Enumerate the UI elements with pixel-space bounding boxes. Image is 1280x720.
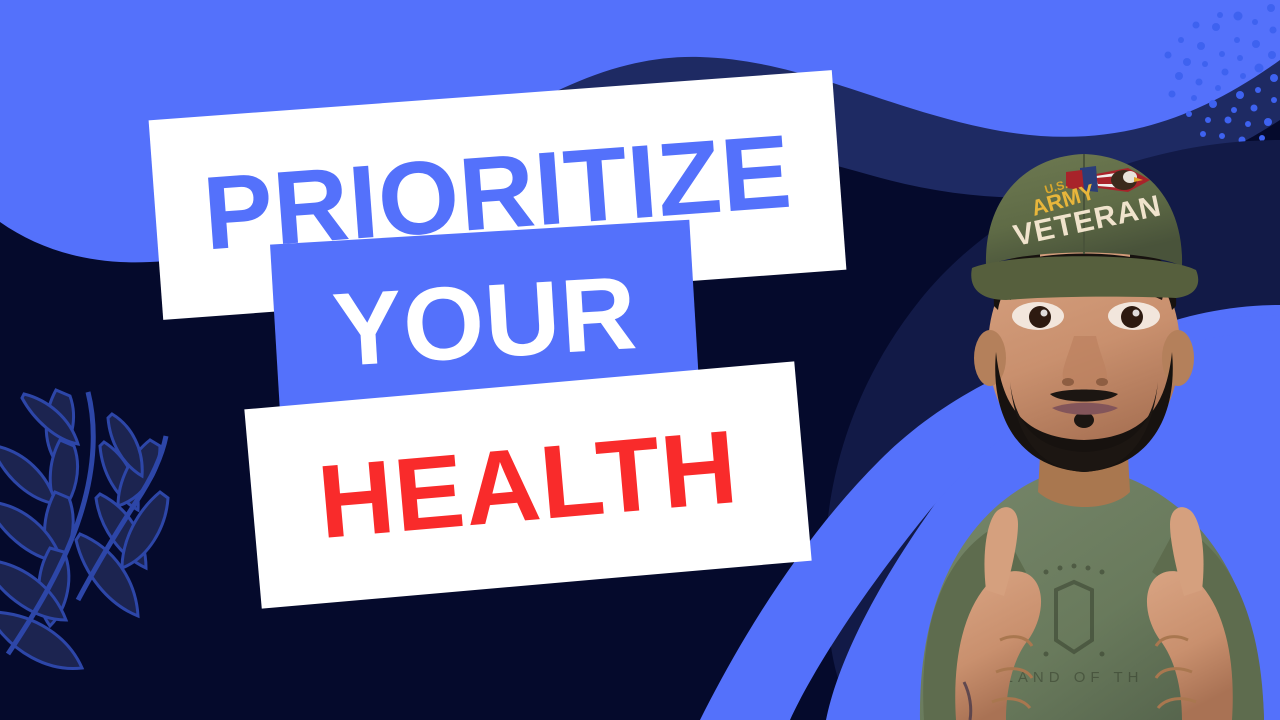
headline-line3-text: HEALTH [314,415,741,555]
headline-line2-text: YOUR [330,261,640,383]
presenter-ear [974,330,1006,386]
cap: U.S. ARMY VETERAN [971,154,1198,300]
presenter-pupil [1029,306,1051,328]
presenter-eye-highlight [1041,310,1048,317]
presenter-eye-highlight [1133,310,1140,317]
presenter-ear [1162,330,1194,386]
presenter-nostril [1062,378,1074,386]
youtube-thumbnail: PRIORITIZE YOUR HEALTH [0,0,1280,720]
headline-stack: PRIORITIZE YOUR HEALTH [0,0,860,620]
leaf-icon [0,612,82,669]
presenter-pupil [1121,306,1143,328]
presenter-photo: LAND OF TH [860,120,1280,720]
cap-brim [971,256,1198,300]
presenter-nostril [1096,378,1108,386]
